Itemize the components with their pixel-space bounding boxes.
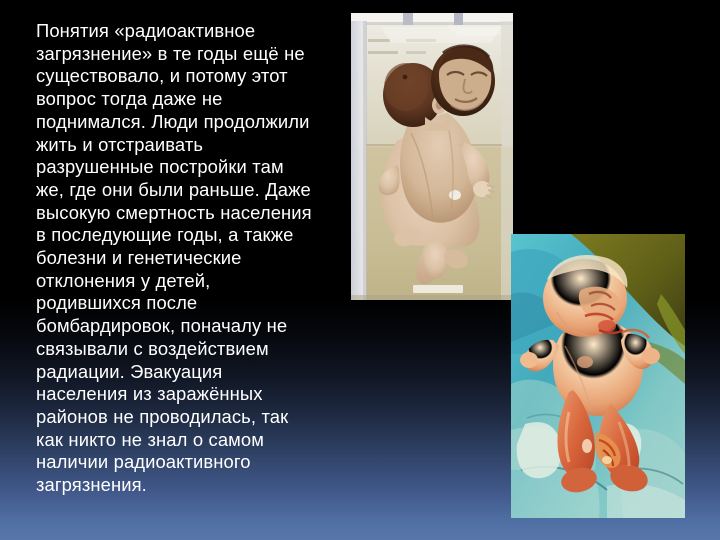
- presentation-slide: Понятия «радиоактивное загрязнение» в те…: [0, 0, 720, 540]
- slide-body-text: Понятия «радиоактивное загрязнение» в те…: [36, 20, 314, 497]
- specimen-photo-graphic: [351, 13, 513, 300]
- newborn-photo-graphic: [511, 234, 685, 518]
- image-newborn-with-deformity: [511, 234, 685, 518]
- image-preserved-conjoined-infant-specimen: [351, 13, 513, 300]
